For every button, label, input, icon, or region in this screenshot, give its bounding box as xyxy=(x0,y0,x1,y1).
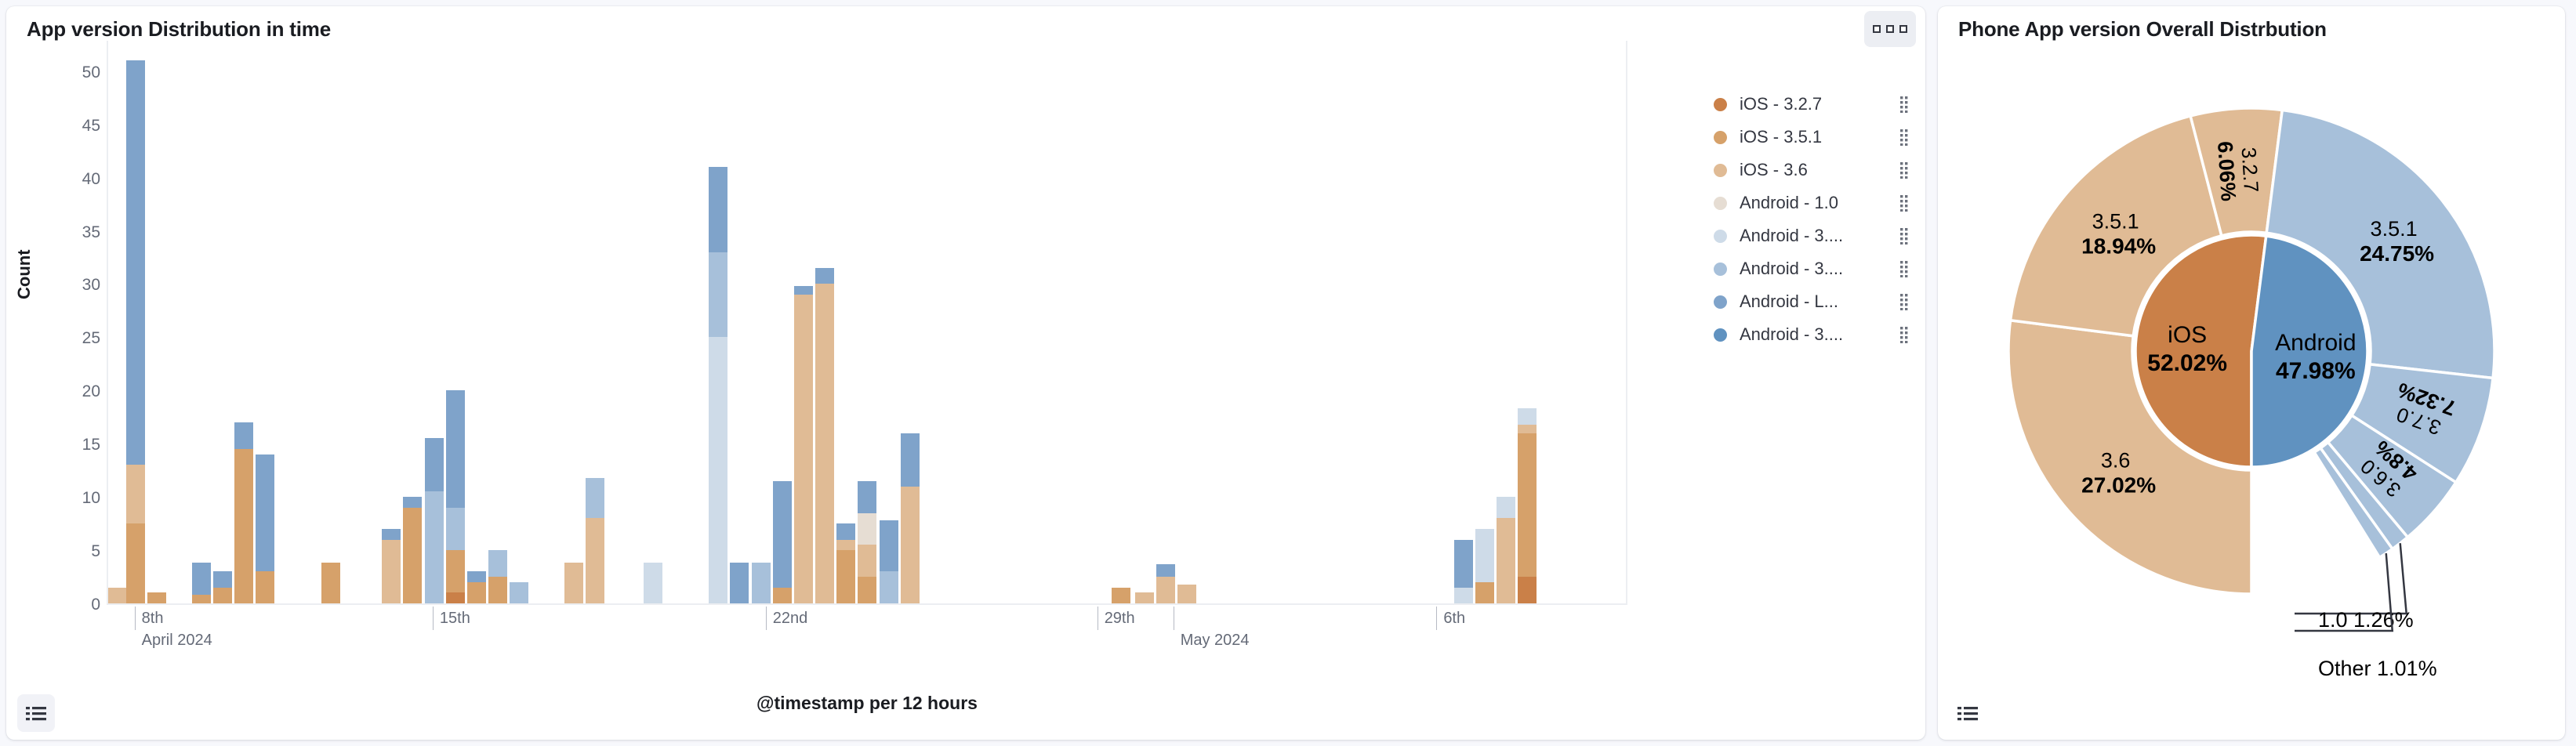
x-axis-tick-label: May 2024 xyxy=(1179,607,1250,650)
panel-app-version-overall: Phone App version Overall Distrbution iO… xyxy=(1938,6,2565,740)
bar-stack[interactable] xyxy=(213,571,232,603)
bar-segment[interactable] xyxy=(730,563,749,603)
legend-item[interactable]: Android - 1.0 xyxy=(1714,186,1910,219)
bar-stack[interactable] xyxy=(1497,497,1515,603)
bar-stack[interactable] xyxy=(815,268,834,603)
bar-segment[interactable] xyxy=(467,582,486,603)
legend-item[interactable]: Android - L... xyxy=(1714,285,1910,318)
bar-segment[interactable] xyxy=(858,577,876,603)
bar-segment[interactable] xyxy=(403,508,422,603)
bar-segment[interactable] xyxy=(467,571,486,582)
list-icon-glyph xyxy=(1957,706,1978,721)
y-axis-tick-label: 30 xyxy=(82,276,100,295)
bar-stack[interactable] xyxy=(794,286,813,603)
list-icon[interactable] xyxy=(17,694,55,732)
bar-stack[interactable] xyxy=(752,563,771,603)
bar-segment[interactable] xyxy=(510,582,528,603)
y-axis-tick-label: 20 xyxy=(82,382,100,401)
bar-segment[interactable] xyxy=(446,390,465,507)
bar-segment[interactable] xyxy=(901,433,920,487)
bar-segment[interactable] xyxy=(446,592,465,603)
donut-outer-label-0: 3.6 xyxy=(2101,449,2131,473)
bar-segment[interactable] xyxy=(901,487,920,603)
y-axis-ticks: 05101520253035404550 xyxy=(53,41,100,605)
x-axis-tick-label: 22nd xyxy=(771,607,808,630)
legend-item-label: Android - 1.0 xyxy=(1740,193,1899,213)
donut-outer-label-1: 3.5.1 xyxy=(2092,209,2139,233)
bar-stack[interactable] xyxy=(730,563,749,603)
bar-stack[interactable] xyxy=(147,592,166,603)
bar-segment[interactable] xyxy=(192,563,211,595)
bar-segment[interactable] xyxy=(256,571,274,603)
bar-stack[interactable] xyxy=(256,454,274,603)
grip-dots-icon[interactable] xyxy=(1899,96,1910,113)
bar-segment[interactable] xyxy=(773,481,792,588)
bar-segment[interactable] xyxy=(446,550,465,592)
y-axis-tick-label: 15 xyxy=(82,436,100,454)
page-title-right: Phone App version Overall Distrbution xyxy=(1938,6,2565,42)
donut-inner-value-android: 47.98% xyxy=(2276,358,2356,384)
legend-item-label: Android - 3.... xyxy=(1740,226,1899,246)
bar-segment[interactable] xyxy=(880,520,898,571)
bar-segment[interactable] xyxy=(1454,588,1473,603)
bar-stack[interactable] xyxy=(1135,592,1154,603)
bar-segment[interactable] xyxy=(192,595,211,603)
bar-stack[interactable] xyxy=(1518,408,1537,603)
legend-item-label: iOS - 3.6 xyxy=(1740,160,1899,180)
bar-segment[interactable] xyxy=(709,337,727,603)
legend-item-label: Android - 3.... xyxy=(1740,259,1899,279)
bar-segment[interactable] xyxy=(1497,518,1515,603)
bar-segment[interactable] xyxy=(256,454,274,571)
bar-segment[interactable] xyxy=(586,478,604,519)
donut-callout-label-1: Other 1.01% xyxy=(2318,657,2437,680)
bar-segment[interactable] xyxy=(1518,577,1537,603)
list-icon-glyph xyxy=(26,706,46,721)
grip-dots-icon[interactable] xyxy=(1899,326,1910,343)
donut-inner-label-ios: iOS xyxy=(2168,322,2207,348)
y-axis-tick-label: 25 xyxy=(82,329,100,348)
bar-stack[interactable] xyxy=(126,60,145,603)
bar-stack[interactable] xyxy=(403,497,422,603)
bar-stack[interactable] xyxy=(836,523,855,603)
bar-segment[interactable] xyxy=(126,60,145,465)
bar-chart: Count 05101520253035404550 8thApril 2024… xyxy=(6,41,1925,707)
bar-segment[interactable] xyxy=(1518,408,1537,424)
x-tick-primary: 8th xyxy=(140,607,212,630)
y-axis-title: Count xyxy=(14,249,34,299)
donut-svg: iOS52.02%Android47.98%3.627.02%3.5.118.9… xyxy=(1938,38,2565,712)
bar-segment[interactable] xyxy=(794,286,813,295)
bar-segment[interactable] xyxy=(1135,592,1154,603)
bar-stack[interactable] xyxy=(564,563,583,603)
bar-segment[interactable] xyxy=(858,513,876,545)
legend-color-swatch-icon xyxy=(1714,328,1727,342)
list-icon-right[interactable] xyxy=(1949,694,1986,732)
legend-item[interactable]: Android - 3.... xyxy=(1714,318,1910,351)
legend-item[interactable]: iOS - 3.2.7 xyxy=(1714,88,1910,121)
grip-dots-icon[interactable] xyxy=(1899,161,1910,179)
bar-segment[interactable] xyxy=(752,563,771,603)
y-axis-tick-label: 0 xyxy=(91,596,100,614)
bar-stack[interactable] xyxy=(467,571,486,603)
plot-right-rule xyxy=(1626,41,1627,603)
bar-segment[interactable] xyxy=(321,563,340,603)
bar-segment[interactable] xyxy=(425,438,444,491)
bar-segment[interactable] xyxy=(1112,588,1130,603)
legend-color-swatch-icon xyxy=(1714,98,1727,111)
bar-segment[interactable] xyxy=(815,284,834,603)
bar-stack[interactable] xyxy=(644,563,662,603)
bar-segment[interactable] xyxy=(1156,577,1175,603)
legend-item-label: Android - L... xyxy=(1740,292,1899,312)
bar-segment[interactable] xyxy=(1518,425,1537,433)
bar-stack[interactable] xyxy=(1156,564,1175,603)
chart-legend: iOS - 3.2.7iOS - 3.5.1iOS - 3.6Android -… xyxy=(1714,88,1910,351)
x-tick-primary: 22nd xyxy=(771,607,808,630)
bar-segment[interactable] xyxy=(488,550,507,577)
x-tick-secondary: May 2024 xyxy=(1179,630,1250,650)
x-tick-primary: 29th xyxy=(1103,607,1135,630)
legend-item-label: iOS - 3.2.7 xyxy=(1740,94,1899,114)
bar-stack[interactable] xyxy=(425,438,444,603)
legend-color-swatch-icon xyxy=(1714,295,1727,309)
bar-stack[interactable] xyxy=(858,481,876,603)
bar-stack[interactable] xyxy=(773,481,792,603)
y-axis-tick-label: 40 xyxy=(82,170,100,189)
x-tick-primary: 15th xyxy=(438,607,470,630)
legend-item[interactable]: Android - 3.... xyxy=(1714,252,1910,285)
bar-stack[interactable] xyxy=(510,582,528,603)
bar-segment[interactable] xyxy=(213,571,232,587)
y-axis-tick-label: 35 xyxy=(82,223,100,242)
bar-segment[interactable] xyxy=(382,540,401,604)
bar-segment[interactable] xyxy=(108,588,127,603)
x-tick-primary: 6th xyxy=(1442,607,1465,630)
bar-segment[interactable] xyxy=(126,465,145,523)
grip-dots-icon[interactable] xyxy=(1899,260,1910,277)
bar-segment[interactable] xyxy=(815,268,834,284)
bar-stack[interactable] xyxy=(586,478,604,603)
bar-segment[interactable] xyxy=(1518,433,1537,577)
bar-segment[interactable] xyxy=(234,422,253,449)
bar-segment[interactable] xyxy=(1177,585,1196,603)
donut-outer-label-3: 3.5.1 xyxy=(2371,217,2418,241)
legend-color-swatch-icon xyxy=(1714,164,1727,177)
legend-item[interactable]: iOS - 3.5.1 xyxy=(1714,121,1910,154)
bar-stack[interactable] xyxy=(901,433,920,603)
y-axis-tick-label: 5 xyxy=(91,542,100,561)
bar-segment[interactable] xyxy=(1475,582,1494,603)
donut-outer-value-0: 27.02% xyxy=(2081,473,2156,498)
plot-area xyxy=(107,41,1627,605)
bar-segment[interactable] xyxy=(880,571,898,603)
bar-stack[interactable] xyxy=(234,422,253,603)
bar-segment[interactable] xyxy=(586,518,604,603)
x-axis-tick-label: 15th xyxy=(438,607,470,630)
donut-inner-value-ios: 52.02% xyxy=(2147,350,2227,376)
bar-segment[interactable] xyxy=(564,563,583,603)
donut-chart: iOS52.02%Android47.98%3.627.02%3.5.118.9… xyxy=(1938,38,2565,712)
bar-segment[interactable] xyxy=(1454,540,1473,588)
donut-inner-label-android: Android xyxy=(2275,330,2356,356)
x-tick-secondary: April 2024 xyxy=(140,630,212,650)
bar-segment[interactable] xyxy=(126,523,145,603)
panel-app-version-over-time: App version Distribution in time Count 0… xyxy=(6,6,1925,740)
bar-stack[interactable] xyxy=(321,563,340,603)
dashboard: App version Distribution in time Count 0… xyxy=(0,0,2576,746)
bar-segment[interactable] xyxy=(425,491,444,603)
y-axis-tick-label: 45 xyxy=(82,117,100,136)
donut-outer-value-1: 18.94% xyxy=(2081,234,2156,258)
x-tick-mark xyxy=(1098,607,1098,630)
x-axis-tick-label: 29th xyxy=(1103,607,1135,630)
bar-stack[interactable] xyxy=(446,390,465,603)
legend-item[interactable]: Android - 3.... xyxy=(1714,219,1910,252)
bar-segment[interactable] xyxy=(147,592,166,603)
legend-item[interactable]: iOS - 3.6 xyxy=(1714,154,1910,186)
bar-segment[interactable] xyxy=(836,523,855,539)
bar-stack[interactable] xyxy=(1475,529,1494,603)
bar-stack[interactable] xyxy=(108,588,127,603)
donut-outer-value-3: 24.75% xyxy=(2360,241,2434,266)
bar-segment[interactable] xyxy=(709,252,727,338)
x-tick-mark xyxy=(1174,607,1174,630)
bar-stack[interactable] xyxy=(192,563,211,603)
bar-segment[interactable] xyxy=(644,563,662,603)
bar-segment[interactable] xyxy=(234,449,253,603)
x-axis-tick-label: 8thApril 2024 xyxy=(140,607,212,650)
grip-dots-icon[interactable] xyxy=(1899,129,1910,146)
legend-color-swatch-icon xyxy=(1714,131,1727,144)
x-tick-mark xyxy=(135,607,136,630)
bar-segment[interactable] xyxy=(213,588,232,603)
legend-color-swatch-icon xyxy=(1714,230,1727,243)
donut-outer-value-2: 6.06% xyxy=(2213,140,2240,201)
grip-dots-icon[interactable] xyxy=(1899,293,1910,310)
bar-segment[interactable] xyxy=(836,550,855,603)
legend-item-label: iOS - 3.5.1 xyxy=(1740,127,1899,147)
bar-segment[interactable] xyxy=(1475,529,1494,582)
bar-segment[interactable] xyxy=(446,508,465,550)
x-axis-title: @timestamp per 12 hours xyxy=(107,693,1627,714)
bar-stack[interactable] xyxy=(382,529,401,603)
bar-segment[interactable] xyxy=(382,529,401,540)
bar-segment[interactable] xyxy=(794,295,813,603)
bar-segment[interactable] xyxy=(1497,497,1515,518)
bar-segment[interactable] xyxy=(858,481,876,513)
x-tick-mark xyxy=(1436,607,1437,630)
bar-segment[interactable] xyxy=(709,167,727,252)
bar-stack[interactable] xyxy=(1177,585,1196,603)
x-axis-ticks: 8thApril 202415th22nd29thMay 20246th xyxy=(107,607,1627,661)
bar-stack[interactable] xyxy=(1112,588,1130,603)
page-title: App version Distribution in time xyxy=(6,6,1925,42)
bar-stack[interactable] xyxy=(880,520,898,603)
bar-segment[interactable] xyxy=(773,588,792,603)
bar-stack[interactable] xyxy=(1454,540,1473,604)
y-axis-tick-label: 10 xyxy=(82,489,100,508)
donut-outer-label-2: 3.2.7 xyxy=(2237,147,2264,194)
y-axis-tick-label: 50 xyxy=(82,63,100,82)
x-tick-mark xyxy=(766,607,767,630)
bar-segment[interactable] xyxy=(1156,564,1175,577)
x-axis-tick-label: 6th xyxy=(1442,607,1465,630)
grip-dots-icon[interactable] xyxy=(1899,227,1910,244)
bar-stack[interactable] xyxy=(709,167,727,603)
bar-segment[interactable] xyxy=(403,497,422,508)
legend-item-label: Android - 3.... xyxy=(1740,324,1899,345)
bar-segment[interactable] xyxy=(488,577,507,603)
x-tick-mark xyxy=(433,607,434,630)
bar-segment[interactable] xyxy=(836,540,855,551)
bar-stack[interactable] xyxy=(488,550,507,603)
legend-color-swatch-icon xyxy=(1714,197,1727,210)
donut-callout-label-0: 1.0 1.26% xyxy=(2318,608,2414,632)
bar-segment[interactable] xyxy=(858,545,876,577)
legend-color-swatch-icon xyxy=(1714,263,1727,276)
grip-dots-icon[interactable] xyxy=(1899,194,1910,212)
